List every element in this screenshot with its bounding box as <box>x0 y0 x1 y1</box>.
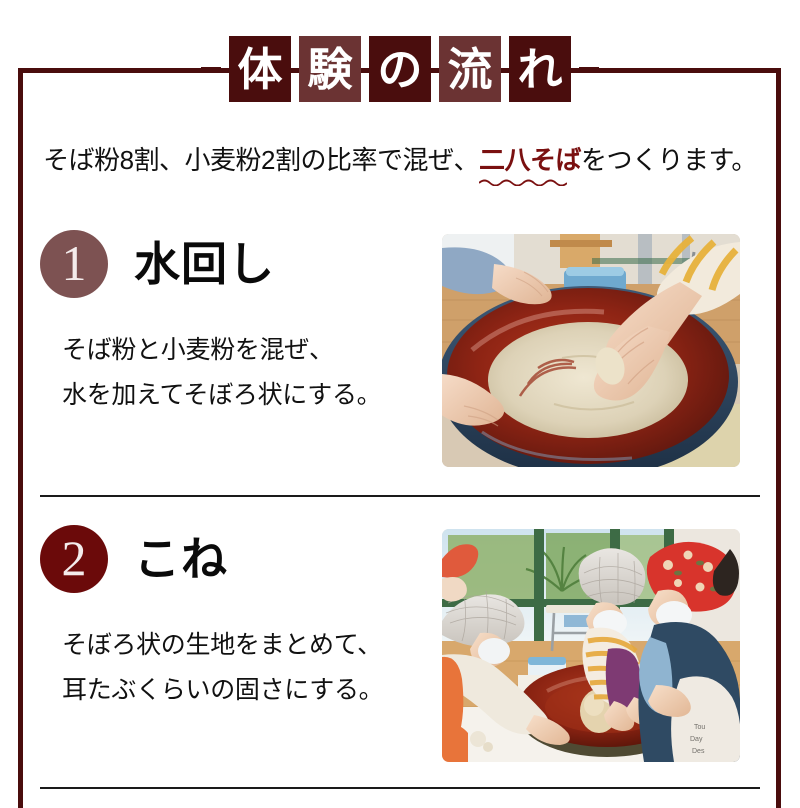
page-title: 体 験 の 流 れ <box>0 34 800 104</box>
subtitle-emphasis-text: 二八そば <box>479 145 581 175</box>
subtitle-text-after: をつくります。 <box>581 145 757 175</box>
svg-text:Tou: Tou <box>694 724 705 731</box>
wavy-underline-icon <box>479 178 567 186</box>
step-item-2: 2 こね そぼろ状の生地をまとめて、 耳たぶくらいの固さにする。 <box>40 523 760 773</box>
section-divider-1 <box>40 495 760 497</box>
title-char-box-1: 体 <box>229 36 291 102</box>
step-1-number-badge: 1 <box>40 230 108 298</box>
step-2-title: こね <box>134 536 228 582</box>
step-item-1: 1 水回し そば粉と小麦粉を混ぜ、 水を加えてそぼろ状にする。 <box>40 228 760 478</box>
title-char-box-5: れ <box>509 36 571 102</box>
title-char-box-3: の <box>369 36 431 102</box>
step-2-number-badge: 2 <box>40 525 108 593</box>
title-char-box-4: 流 <box>439 36 501 102</box>
svg-text:Des: Des <box>692 748 705 755</box>
svg-text:Day: Day <box>690 736 703 743</box>
step-1-photo <box>442 234 740 467</box>
subtitle-emphasis: 二八そば <box>479 140 581 177</box>
subtitle-text-before: そば粉8割、小麦粉2割の比率で混ぜ、 <box>43 145 479 175</box>
title-dash-right <box>579 67 599 72</box>
step-2-photo: Tou Day Des <box>442 529 740 762</box>
title-dash-left <box>201 67 221 72</box>
title-char-box-2: 験 <box>299 36 361 102</box>
photo-kneading-dough-group: Tou Day Des <box>442 529 740 762</box>
section-divider-2 <box>40 787 760 789</box>
step-1-title: 水回し <box>134 241 275 287</box>
subtitle: そば粉8割、小麦粉2割の比率で混ぜ、二八そば をつくります。 <box>0 140 800 177</box>
photo-mixing-flour-in-bowl <box>442 234 740 467</box>
